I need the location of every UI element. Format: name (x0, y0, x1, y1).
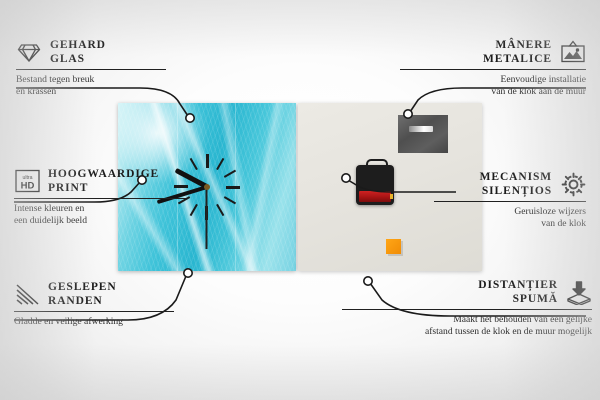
feature-description: Geruisloze wijzersvan de klok (434, 206, 586, 231)
feature-rule (434, 201, 586, 202)
hanger-slot (409, 126, 433, 132)
quartz-mechanism (356, 165, 394, 205)
feature-rule (400, 69, 586, 70)
feature-title: HOOGWAARDIGEPRINT (48, 167, 159, 195)
bevelled-edges-icon (14, 282, 40, 306)
feature-mecanism-silentios: MECANISMSILENȚIOS Geruisloze wijzersvan … (434, 170, 586, 231)
feature-description: Maakt het behouden van een gelijkeafstan… (342, 314, 592, 339)
feature-header: DISTANȚIERSPUMĂ (342, 278, 592, 306)
feature-description: Bestand tegen breuken krassen (16, 74, 166, 99)
feature-title: DISTANȚIERSPUMĂ (478, 278, 558, 306)
feature-geslepen-randen: GESLEPENRANDEN Gladde en veilige afwerki… (14, 280, 174, 328)
feature-manere-metalice: MÂNEREMETALICE Eenvoudige installatievan… (400, 38, 586, 99)
feature-description: Eenvoudige installatievan de klok aan de… (400, 74, 586, 99)
feature-rule (14, 198, 186, 199)
feature-title: GEHARDGLAS (50, 38, 106, 66)
feature-header: GEHARDGLAS (16, 38, 166, 66)
feature-header: GESLEPENRANDEN (14, 280, 174, 308)
svg-text:HD: HD (20, 181, 34, 192)
feature-gehard-glas: GEHARDGLAS Bestand tegen breuken krassen (16, 38, 166, 99)
feature-rule (14, 311, 174, 312)
gear-icon (560, 172, 586, 196)
spacer-arrow-icon (566, 280, 592, 304)
battery (359, 191, 391, 202)
feature-rule (342, 309, 592, 310)
feature-title: MECANISMSILENȚIOS (480, 170, 552, 198)
feature-header: ultra HD HOOGWAARDIGEPRINT (14, 167, 186, 195)
feature-hoogwaardige-print: ultra HD HOOGWAARDIGEPRINT Intense kleur… (14, 167, 186, 228)
picture-frame-icon (560, 40, 586, 64)
feature-description: Gladde en veilige afwerking (14, 316, 174, 328)
feature-rule (16, 69, 166, 70)
feature-title: GESLEPENRANDEN (48, 280, 117, 308)
hanger-plate (398, 115, 448, 153)
mechanism-hook (366, 159, 388, 170)
feature-header: MÂNEREMETALICE (400, 38, 586, 66)
feature-description: Intense kleuren eneen duidelijk beeld (14, 203, 186, 228)
feature-header: MECANISMSILENȚIOS (434, 170, 586, 198)
feature-distantier-spuma: DISTANȚIERSPUMĂ Maakt het behouden van e… (342, 278, 592, 339)
ultra-hd-icon: ultra HD (14, 169, 40, 193)
foam-spacer (386, 239, 401, 254)
diamond-icon (16, 40, 42, 64)
clock-center-hub (204, 184, 210, 190)
feature-title: MÂNEREMETALICE (483, 38, 552, 66)
infographic-canvas: GEHARDGLAS Bestand tegen breuken krassen… (0, 0, 600, 400)
